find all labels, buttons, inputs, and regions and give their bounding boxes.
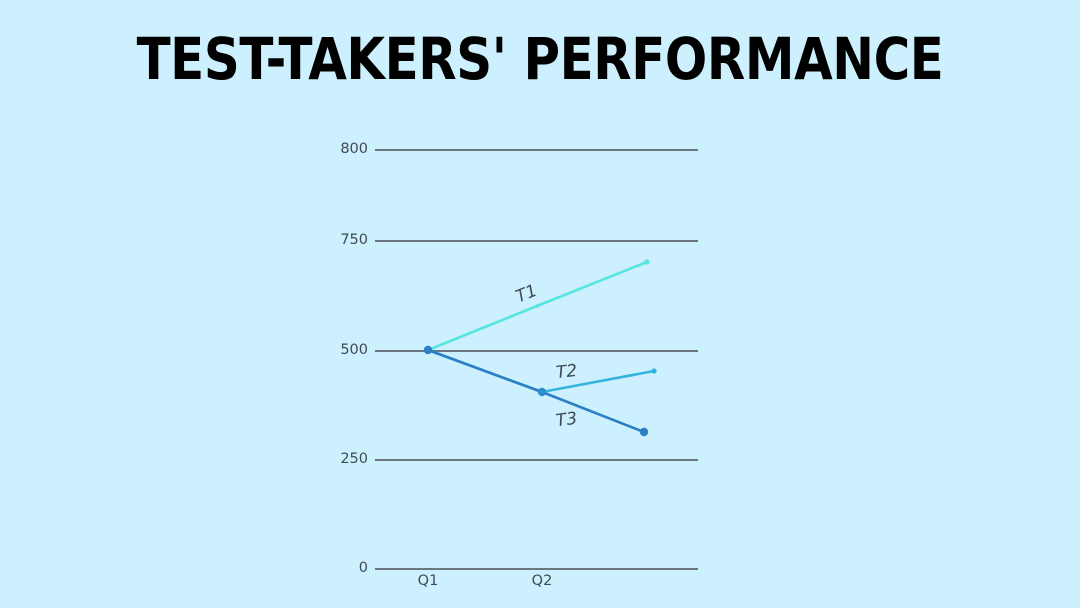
data-point-t3-q3 [640,428,648,436]
series-lines-svg [0,0,1080,608]
slide-canvas: TEST-TAKERS' PERFORMANCE 800 750 500 250 [0,0,1080,608]
data-point-t3-q1 [424,346,432,354]
data-point-t1-q3 [644,259,649,264]
series-line-t3 [428,350,644,432]
data-point-t1-q2 [535,304,539,308]
chart-plot-area: 800 750 500 250 0 Q1 Q2 [0,0,1080,608]
data-point-t2-q3 [651,368,656,373]
series-label-t2: T2 [555,361,578,383]
series-line-t2 [428,350,654,392]
data-point-t2-q2 [538,388,546,396]
series-label-t3: T3 [555,409,579,432]
